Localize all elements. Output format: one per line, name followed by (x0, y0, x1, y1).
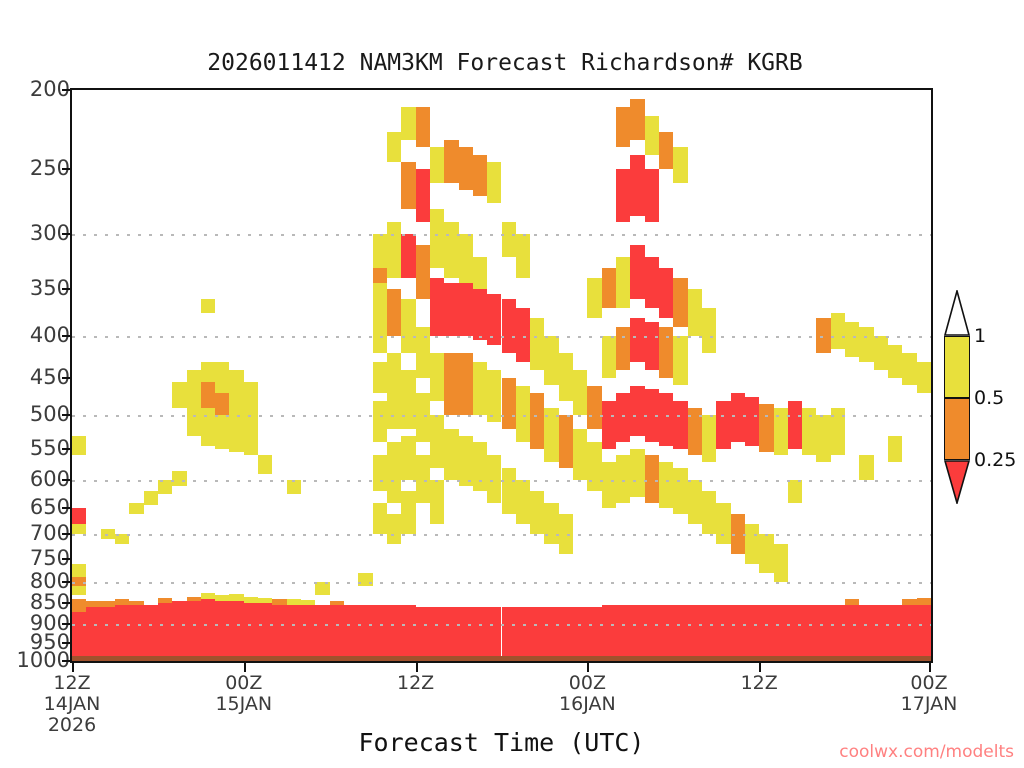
y-axis-tick-label: 750 (8, 546, 70, 570)
x-axis-tick-mark (587, 663, 589, 672)
terrain-fill (72, 656, 931, 661)
x-axis-tick-label: 00Z16JAN (507, 673, 667, 715)
x-axis-label: Forecast Time (UTC) (70, 728, 933, 757)
x-axis-tick-label: 12Z (679, 673, 839, 694)
chart-container: 2026011412 NAM3KM Forecast Richardson# K… (0, 0, 1024, 768)
colorbar-over-arrow-outline (944, 290, 970, 336)
y-axis-tick-label: 700 (8, 521, 70, 545)
x-axis-tick-label: 12Z (336, 673, 496, 694)
x-axis-tick-label: 00Z15JAN (164, 673, 324, 715)
page-title: 2026011412 NAM3KM Forecast Richardson# K… (0, 50, 1010, 76)
colorbar-under-arrow (944, 460, 970, 504)
y-axis-tick-label: 200 (8, 77, 70, 101)
colorbar-tick-label: 1 (974, 325, 986, 347)
x-axis-tick-line: 14JAN (0, 694, 152, 715)
terrain-layer (72, 90, 931, 661)
y-axis-tick-label: 350 (8, 276, 70, 300)
colorbar-legend: 10.50.25 (944, 290, 970, 460)
x-axis-tick-line: 00Z (164, 673, 324, 694)
colorbar-band (944, 398, 970, 460)
x-axis-tick-mark (72, 663, 74, 672)
y-axis-tick-label: 800 (8, 569, 70, 593)
x-axis-tick-line: 12Z (679, 673, 839, 694)
y-axis-tick-label: 300 (8, 221, 70, 245)
x-axis-tick-line: 15JAN (164, 694, 324, 715)
y-axis-tick-label: 450 (8, 365, 70, 389)
y-axis: 2002503003504004505005506006507007508008… (0, 88, 70, 663)
x-axis-tick-mark (244, 663, 246, 672)
colorbar-band (944, 336, 970, 398)
y-axis-tick-label: 250 (8, 156, 70, 180)
y-axis-tick-label: 600 (8, 467, 70, 491)
x-axis-tick-line: 16JAN (507, 694, 667, 715)
x-axis-tick-line: 12Z (0, 673, 152, 694)
x-axis-tick-mark (416, 663, 418, 672)
x-axis-tick-mark (759, 663, 761, 672)
x-axis-tick-mark (929, 663, 931, 672)
plot-area (70, 88, 933, 663)
x-axis-tick-line: 00Z (507, 673, 667, 694)
x-axis-tick-line: 12Z (336, 673, 496, 694)
y-axis-tick-label: 650 (8, 495, 70, 519)
y-axis-tick-label: 500 (8, 402, 70, 426)
colorbar-tick-label: 0.25 (974, 449, 1016, 471)
x-axis-tick-line: 00Z (849, 673, 1009, 694)
x-axis-tick-label: 00Z17JAN (849, 673, 1009, 715)
x-axis-tick-label: 12Z14JAN2026 (0, 673, 152, 736)
y-axis-tick-label: 1000 (8, 648, 70, 672)
y-axis-tick-label: 550 (8, 436, 70, 460)
y-axis-tick-label: 400 (8, 323, 70, 347)
colorbar-tick-label: 0.5 (974, 387, 1004, 409)
x-axis-tick-line: 17JAN (849, 694, 1009, 715)
watermark: coolwx.com/modelts (839, 742, 1014, 762)
